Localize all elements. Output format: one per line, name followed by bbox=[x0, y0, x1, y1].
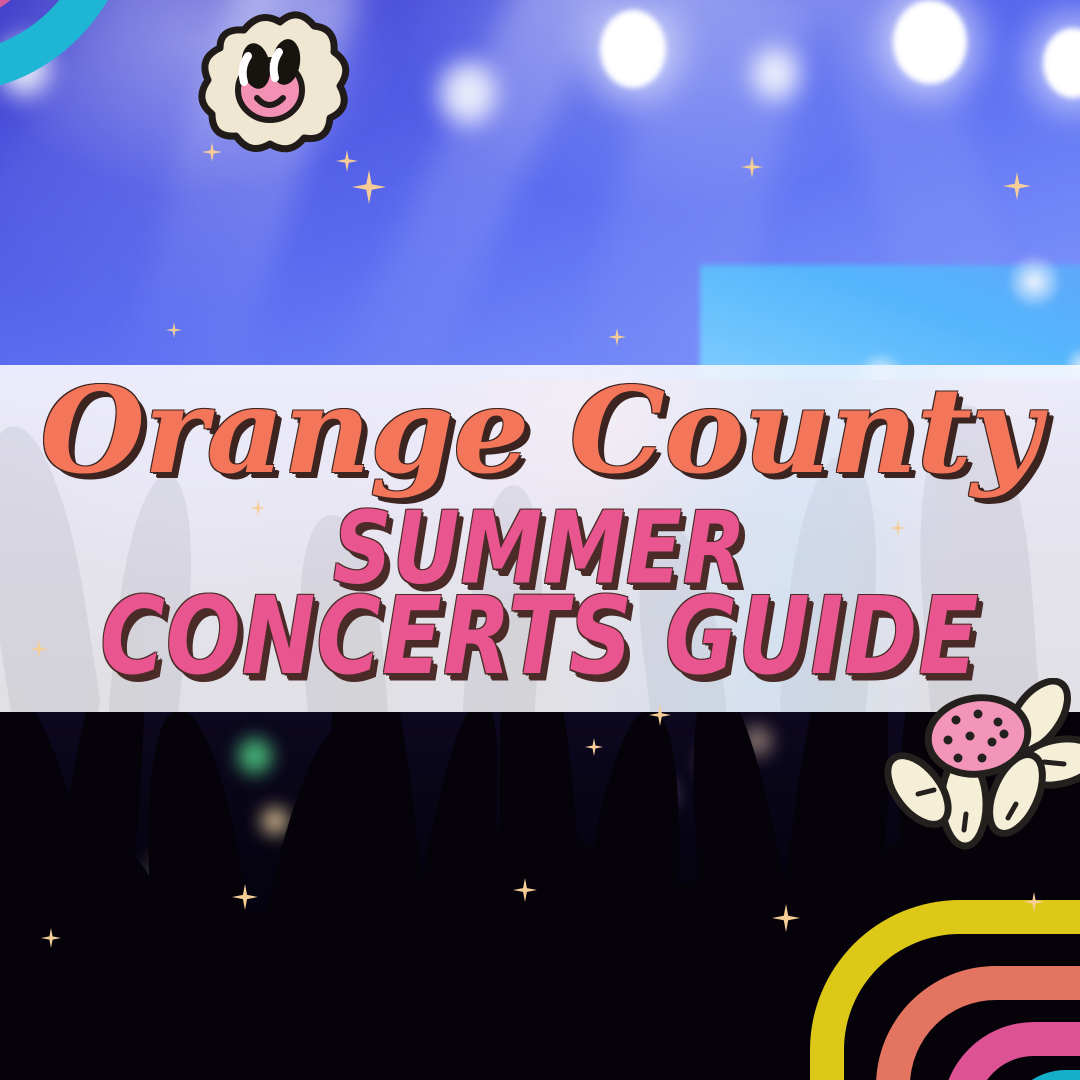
poster-canvas: Orange County SUMMER CONCERTS GUIDE bbox=[0, 0, 1080, 1080]
rainbow-band-teal bbox=[0, 0, 134, 94]
page-title: Orange County bbox=[40, 371, 1040, 491]
stage-lamp bbox=[600, 10, 666, 88]
stage-lamp bbox=[440, 62, 496, 124]
rainbow-bottom-right bbox=[740, 830, 1080, 1080]
stage-lamp bbox=[752, 48, 798, 100]
subtitle-line-2: CONCERTS GUIDE bbox=[100, 584, 979, 689]
title-block: Orange County SUMMER CONCERTS GUIDE bbox=[0, 365, 1080, 712]
crowd-bokeh-light bbox=[238, 738, 272, 774]
crowd-bokeh-light bbox=[262, 808, 288, 834]
daisy-flower-icon bbox=[878, 678, 1080, 850]
stage-lamp bbox=[1043, 28, 1080, 98]
stage-lamp bbox=[893, 0, 967, 84]
